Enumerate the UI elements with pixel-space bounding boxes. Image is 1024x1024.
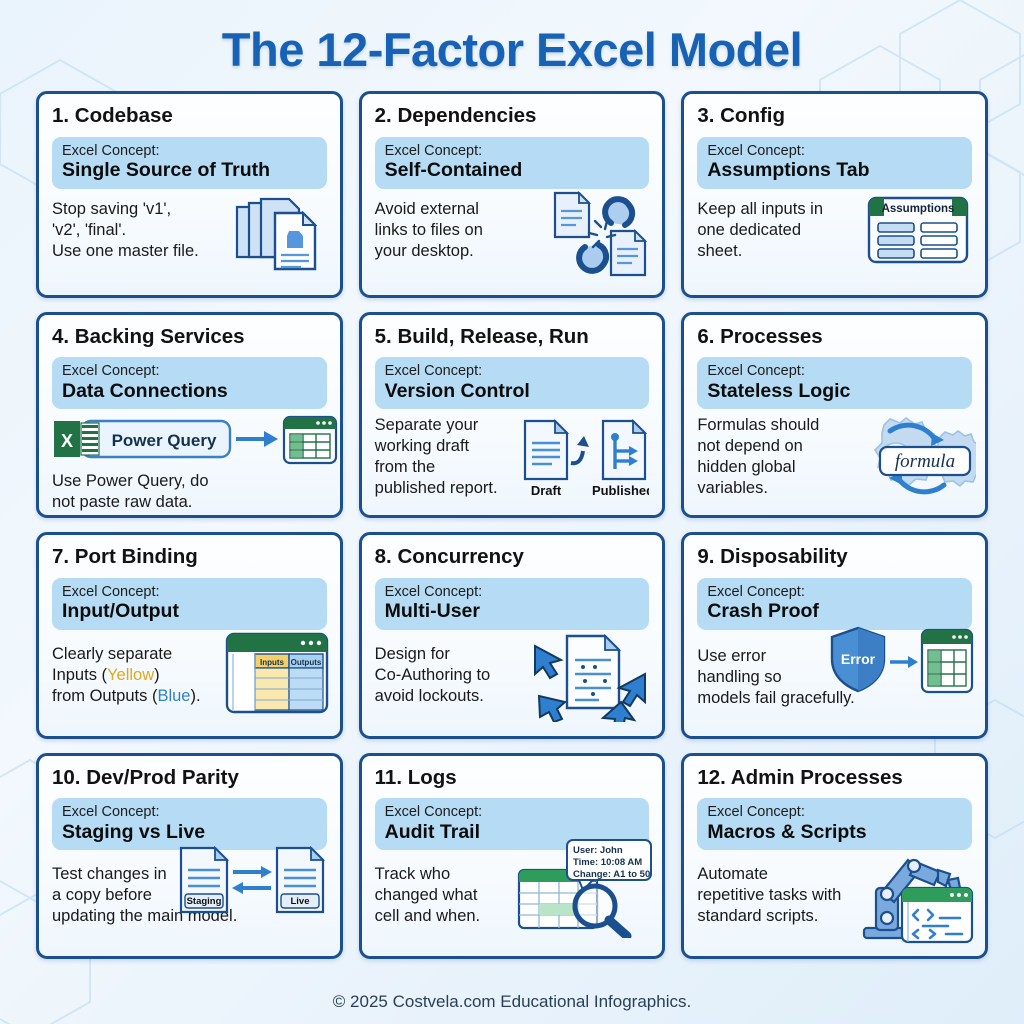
card-9-disposability[interactable]: 9. Disposability Excel Concept: Crash Pr… bbox=[681, 532, 988, 739]
audit-change-label: Change: A1 to 50 bbox=[573, 869, 650, 880]
concept-value: Stateless Logic bbox=[707, 380, 962, 402]
desc-line: hidden global bbox=[697, 457, 851, 478]
desc-line: Design for bbox=[375, 644, 534, 665]
broken-link-documents-icon bbox=[549, 189, 649, 281]
card-body: Keep all inputs in one dedicated sheet. … bbox=[697, 199, 972, 262]
assumptions-sheet-icon: Assumptions bbox=[866, 195, 970, 265]
formula-label: formula bbox=[895, 451, 955, 472]
concept-band: Excel Concept: Multi-User bbox=[375, 578, 650, 630]
power-query-label: Power Query bbox=[112, 431, 217, 450]
power-query-flow-icon: Power Query X bbox=[52, 415, 338, 465]
page-title: The 12-Factor Excel Model bbox=[0, 0, 1024, 77]
concept-value: Assumptions Tab bbox=[707, 159, 962, 181]
concept-label: Excel Concept: bbox=[385, 143, 640, 160]
card-title: 4. Backing Services bbox=[52, 326, 327, 349]
desc-line: Clearly separate bbox=[52, 644, 233, 665]
audit-magnifier-sheet-icon: User: John Time: 10:08 AM Change: A1 to … bbox=[513, 838, 653, 938]
card-10-dev-prod-parity[interactable]: 10. Dev/Prod Parity Excel Concept: Stagi… bbox=[36, 753, 343, 960]
blue-highlight: Blue bbox=[157, 687, 190, 705]
card-title: 9. Disposability bbox=[697, 546, 972, 569]
concept-value: Version Control bbox=[385, 380, 640, 402]
card-title: 8. Concurrency bbox=[375, 546, 650, 569]
concept-value: Crash Proof bbox=[707, 600, 962, 622]
concept-label: Excel Concept: bbox=[707, 143, 962, 160]
card-7-port-binding[interactable]: 7. Port Binding Excel Concept: Input/Out… bbox=[36, 532, 343, 739]
concept-band: Excel Concept: Crash Proof bbox=[697, 578, 972, 630]
desc-line: Test changes in bbox=[52, 864, 195, 885]
audit-time-label: Time: 10:08 AM bbox=[573, 857, 642, 868]
desc-line-outputs: from Outputs (Blue). bbox=[52, 686, 233, 707]
concept-value: Staging vs Live bbox=[62, 821, 317, 843]
desc-line: not depend on bbox=[697, 436, 851, 457]
card-title: 2. Dependencies bbox=[375, 105, 650, 128]
inputs-outputs-sheet-icon: Inputs Outputs bbox=[225, 632, 329, 716]
card-title: 6. Processes bbox=[697, 326, 972, 349]
card-3-config[interactable]: 3. Config Excel Concept: Assumptions Tab… bbox=[681, 91, 988, 298]
card-body: Avoid external links to files on your de… bbox=[375, 199, 650, 262]
concept-label: Excel Concept: bbox=[707, 363, 962, 380]
card-description: Clearly separate Inputs (Yellow) from Ou… bbox=[52, 644, 233, 707]
footer-copyright: © 2025 Costvela.com Educational Infograp… bbox=[0, 992, 1024, 1012]
excel-x-label: X bbox=[61, 431, 73, 451]
card-grid: 1. Codebase Excel Concept: Single Source… bbox=[0, 77, 1024, 959]
card-12-admin-processes[interactable]: 12. Admin Processes Excel Concept: Macro… bbox=[681, 753, 988, 960]
card-description: Test changes in a copy before bbox=[52, 864, 195, 906]
desc-line: published report. bbox=[375, 478, 534, 499]
card-title: 11. Logs bbox=[375, 767, 650, 790]
card-body: Test changes in a copy before updating t… bbox=[52, 864, 327, 927]
card-5-build-release-run[interactable]: 5. Build, Release, Run Excel Concept: Ve… bbox=[359, 312, 666, 519]
card-title: 3. Config bbox=[697, 105, 972, 128]
inputs-column-label: Inputs bbox=[260, 658, 285, 667]
published-label: Published bbox=[592, 483, 649, 498]
desc-line: Use Power Query, do bbox=[52, 471, 327, 492]
concept-band: Excel Concept: Single Source of Truth bbox=[52, 137, 327, 189]
desc-line: Use error bbox=[697, 646, 829, 667]
card-body: Stop saving 'v1', 'v2', 'final'. Use one… bbox=[52, 199, 327, 262]
multi-cursor-document-icon bbox=[533, 630, 649, 722]
card-body: Clearly separate Inputs (Yellow) from Ou… bbox=[52, 644, 327, 707]
card-body: Separate your working draft from the pub… bbox=[375, 415, 650, 499]
concept-value: Input/Output bbox=[62, 600, 317, 622]
concept-band: Excel Concept: Self-Contained bbox=[375, 137, 650, 189]
card-title: 1. Codebase bbox=[52, 105, 327, 128]
card-description: Separate your working draft from the pub… bbox=[375, 415, 534, 499]
card-body: Design for Co-Authoring to avoid lockout… bbox=[375, 644, 650, 707]
concept-label: Excel Concept: bbox=[385, 804, 640, 821]
card-description: Use Power Query, do not paste raw data. bbox=[52, 471, 327, 513]
card-body: Formulas should not depend on hidden glo… bbox=[697, 415, 972, 499]
desc-line: Automate bbox=[697, 864, 834, 885]
desc-line: changed what bbox=[375, 885, 518, 906]
gears-formula-icon: formula bbox=[844, 415, 976, 501]
card-4-backing-services[interactable]: 4. Backing Services Excel Concept: Data … bbox=[36, 312, 343, 519]
concept-label: Excel Concept: bbox=[62, 584, 317, 601]
staging-live-documents-icon: Staging Live bbox=[177, 846, 329, 920]
yellow-highlight: Yellow bbox=[107, 666, 154, 684]
concept-value: Multi-User bbox=[385, 600, 640, 622]
card-title: 5. Build, Release, Run bbox=[375, 326, 650, 349]
card-6-processes[interactable]: 6. Processes Excel Concept: Stateless Lo… bbox=[681, 312, 988, 519]
concept-band: Excel Concept: Input/Output bbox=[52, 578, 327, 630]
desc-line: Separate your bbox=[375, 415, 534, 436]
card-1-codebase[interactable]: 1. Codebase Excel Concept: Single Source… bbox=[36, 91, 343, 298]
concept-band: Excel Concept: Data Connections bbox=[52, 357, 327, 409]
card-2-dependencies[interactable]: 2. Dependencies Excel Concept: Self-Cont… bbox=[359, 91, 666, 298]
card-description: Formulas should not depend on hidden glo… bbox=[697, 415, 851, 499]
card-body: Use error handling so models fail gracef… bbox=[697, 646, 972, 709]
robot-arm-code-icon bbox=[848, 840, 976, 944]
desc-line-inputs: Inputs (Yellow) bbox=[52, 665, 233, 686]
error-label: Error bbox=[841, 651, 876, 667]
audit-user-label: User: John bbox=[573, 845, 623, 856]
draft-published-documents-icon: Draft Published bbox=[521, 417, 649, 501]
concept-label: Excel Concept: bbox=[707, 584, 962, 601]
card-8-concurrency[interactable]: 8. Concurrency Excel Concept: Multi-User… bbox=[359, 532, 666, 739]
desc-line: Formulas should bbox=[697, 415, 851, 436]
card-title: 10. Dev/Prod Parity bbox=[52, 767, 327, 790]
desc-line: avoid lockouts. bbox=[375, 686, 534, 707]
infographic-page: The 12-Factor Excel Model 1. Codebase Ex… bbox=[0, 0, 1024, 1024]
concept-label: Excel Concept: bbox=[385, 584, 640, 601]
assumptions-tab-label: Assumptions bbox=[882, 203, 955, 215]
outputs-column-label: Outputs bbox=[290, 658, 321, 667]
card-description: Use error handling so bbox=[697, 646, 829, 688]
concept-label: Excel Concept: bbox=[62, 143, 317, 160]
card-description: Track who changed what cell and when. bbox=[375, 864, 518, 927]
desc-line: Track who bbox=[375, 864, 518, 885]
desc-line: from the bbox=[375, 457, 534, 478]
card-description: Automate bbox=[697, 864, 834, 885]
concept-band: Excel Concept: Assumptions Tab bbox=[697, 137, 972, 189]
concept-label: Excel Concept: bbox=[62, 804, 317, 821]
concept-value: Self-Contained bbox=[385, 159, 640, 181]
desc-line: Co-Authoring to bbox=[375, 665, 534, 686]
concept-band: Excel Concept: Staging vs Live bbox=[52, 798, 327, 850]
card-body: Power Query X bbox=[52, 415, 327, 513]
concept-label: Excel Concept: bbox=[707, 804, 962, 821]
concept-value: Single Source of Truth bbox=[62, 159, 317, 181]
card-body: Automate repetitive tasks with standard … bbox=[697, 864, 972, 927]
staging-label: Staging bbox=[186, 896, 221, 907]
live-label: Live bbox=[290, 896, 309, 907]
concept-label: Excel Concept: bbox=[62, 363, 317, 380]
draft-label: Draft bbox=[531, 483, 562, 498]
desc-line: working draft bbox=[375, 436, 534, 457]
card-title: 12. Admin Processes bbox=[697, 767, 972, 790]
desc-line: variables. bbox=[697, 478, 851, 499]
desc-line: cell and when. bbox=[375, 906, 518, 927]
error-shield-sheet-icon: Error bbox=[822, 626, 974, 700]
desc-line: not paste raw data. bbox=[52, 492, 327, 513]
card-body: Track who changed what cell and when. Us… bbox=[375, 864, 650, 927]
concept-value: Data Connections bbox=[62, 380, 317, 402]
desc-line: handling so bbox=[697, 667, 829, 688]
concept-band: Excel Concept: Version Control bbox=[375, 357, 650, 409]
card-11-logs[interactable]: 11. Logs Excel Concept: Audit Trail Trac… bbox=[359, 753, 666, 960]
card-title: 7. Port Binding bbox=[52, 546, 327, 569]
desc-line: a copy before bbox=[52, 885, 195, 906]
card-description: Design for Co-Authoring to avoid lockout… bbox=[375, 644, 534, 707]
concept-label: Excel Concept: bbox=[385, 363, 640, 380]
concept-band: Excel Concept: Stateless Logic bbox=[697, 357, 972, 409]
stacked-documents-icon bbox=[231, 193, 323, 275]
